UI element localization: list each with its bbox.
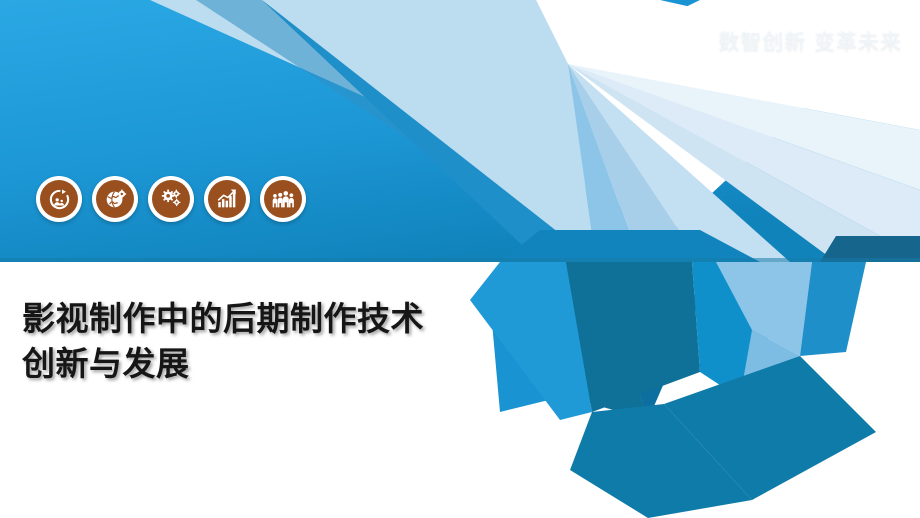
- icon-disc: [96, 180, 134, 218]
- gears-icon: [160, 188, 183, 211]
- presentation-slide: 数智创新 变革未来: [0, 0, 920, 518]
- icon-badge-bar-chart[interactable]: [204, 176, 250, 222]
- team-people-icon: [272, 188, 295, 211]
- title-line-2: 创新与发展: [22, 341, 562, 386]
- background-artwork: [0, 0, 920, 518]
- band-separator: [0, 258, 920, 262]
- growth-cycle-icon: [48, 188, 71, 211]
- bar-chart-icon: [216, 188, 239, 211]
- icon-disc: [152, 180, 190, 218]
- icon-disc: [208, 180, 246, 218]
- icon-badge-team-people[interactable]: [260, 176, 306, 222]
- icon-badge-globe-gear[interactable]: [92, 176, 138, 222]
- icon-strip: [36, 176, 306, 222]
- icon-disc: [264, 180, 302, 218]
- icon-badge-growth-cycle[interactable]: [36, 176, 82, 222]
- title-line-1: 影视制作中的后期制作技术: [22, 296, 562, 341]
- page-title: 影视制作中的后期制作技术 创新与发展: [22, 296, 562, 386]
- icon-badge-gears[interactable]: [148, 176, 194, 222]
- slide-tagline: 数智创新 变革未来: [718, 26, 902, 56]
- globe-gear-icon: [104, 188, 127, 211]
- icon-disc: [40, 180, 78, 218]
